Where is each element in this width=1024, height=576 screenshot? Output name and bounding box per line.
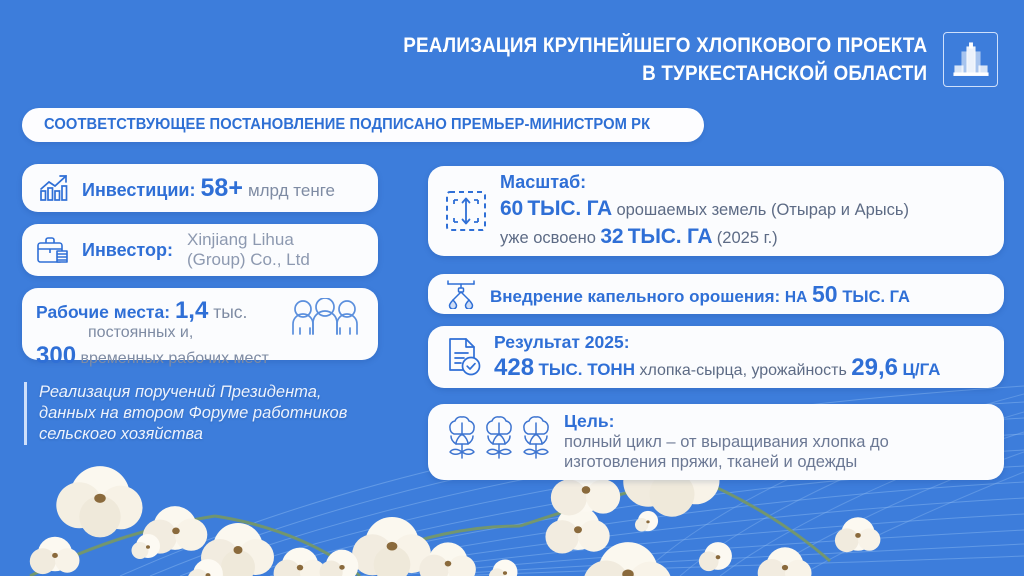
scale-developed-unit: тыс. га <box>628 225 713 248</box>
jobs-permanent-unit: тыс. <box>213 302 247 322</box>
decree-banner-text: СООТВЕТСТВУЮЩЕЕ ПОСТАНОВЛЕНИЕ ПОДПИСАНО … <box>44 116 650 134</box>
decree-banner: СООТВЕТСТВУЮЩЕЕ ПОСТАНОВЛЕНИЕ ПОДПИСАНО … <box>22 108 704 142</box>
drip-unit: тыс. га <box>842 288 910 306</box>
drip-value: 50 <box>812 281 838 307</box>
scale-developed-prefix: уже освоено <box>500 229 596 247</box>
scale-value: 60 <box>500 197 523 220</box>
card-goal[interactable]: Цель: полный цикл – от выращивания хлопк… <box>428 404 1004 480</box>
card-result-2025[interactable]: Результат 2025: 428 тыс. тонн хлопка-сыр… <box>428 326 1004 388</box>
result-text: хлопка-сырца, урожайность <box>639 362 846 379</box>
dashed-area-arrow-icon <box>444 188 488 234</box>
president-assignment-quote: Реализация поручений Президента, данных … <box>24 382 416 445</box>
government-building-icon <box>943 32 998 87</box>
card-scale[interactable]: Масштаб: 60 тыс. га орошаемых земель (От… <box>428 166 1004 256</box>
goal-title: Цель: <box>564 411 988 432</box>
investments-value: 58+ <box>201 174 243 202</box>
scale-developed-year: (2025 г.) <box>717 229 778 247</box>
three-people-icon <box>290 298 360 343</box>
jobs-temporary-value: 300 <box>36 342 76 369</box>
card-investments[interactable]: Инвестиции: 58+ млрд тенге <box>22 164 378 212</box>
document-check-icon <box>444 336 482 378</box>
jobs-temporary-text: временных рабочих мест <box>81 350 269 367</box>
drip-preposition: НА <box>785 289 807 306</box>
investments-label: Инвестиции: <box>82 180 196 200</box>
card-jobs[interactable]: Рабочие места: 1,4 тыс. постоянных и, 30… <box>22 288 378 360</box>
result-yield-value: 29,6 <box>851 354 898 381</box>
page-title: РЕАЛИЗАЦИЯ КРУПНЕЙШЕГО ХЛОПКОВОГО ПРОЕКТ… <box>403 32 927 87</box>
drip-irrigation-icon <box>444 279 478 309</box>
result-title: Результат 2025: <box>494 332 988 353</box>
investor-label: Инвестор: <box>82 240 173 261</box>
scale-title: Масштаб: <box>500 172 988 194</box>
result-value: 428 <box>494 354 534 381</box>
goal-text: полный цикл – от выращивания хлопка до и… <box>564 433 988 473</box>
drip-label: Внедрение капельного орошения: <box>490 287 780 306</box>
investor-value: Xinjiang Lihua (Group) Co., Ltd <box>187 230 310 270</box>
cotton-plants-icon <box>444 414 552 470</box>
card-investor[interactable]: Инвестор: Xinjiang Lihua (Group) Co., Lt… <box>22 224 378 276</box>
scale-developed-value: 32 <box>600 225 623 248</box>
card-drip-irrigation[interactable]: Внедрение капельного орошения: НА 50 тыс… <box>428 274 1004 314</box>
result-yield-unit: ц/га <box>902 360 940 379</box>
investments-unit: млрд тенге <box>248 181 335 200</box>
scale-text: орошаемых земель (Отырар и Арысь) <box>616 201 909 219</box>
jobs-label: Рабочие места: <box>36 302 170 322</box>
result-unit: тыс. тонн <box>539 360 636 379</box>
jobs-permanent-suffix: постоянных и, <box>88 324 193 341</box>
header: РЕАЛИЗАЦИЯ КРУПНЕЙШЕГО ХЛОПКОВОГО ПРОЕКТ… <box>345 32 998 87</box>
jobs-permanent-value: 1,4 <box>175 297 208 324</box>
scale-unit: тыс. га <box>527 197 612 220</box>
briefcase-money-icon <box>36 234 70 266</box>
infographic-canvas: РЕАЛИЗАЦИЯ КРУПНЕЙШЕГО ХЛОПКОВОГО ПРОЕКТ… <box>0 0 1024 576</box>
bar-chart-growth-icon <box>38 173 70 203</box>
